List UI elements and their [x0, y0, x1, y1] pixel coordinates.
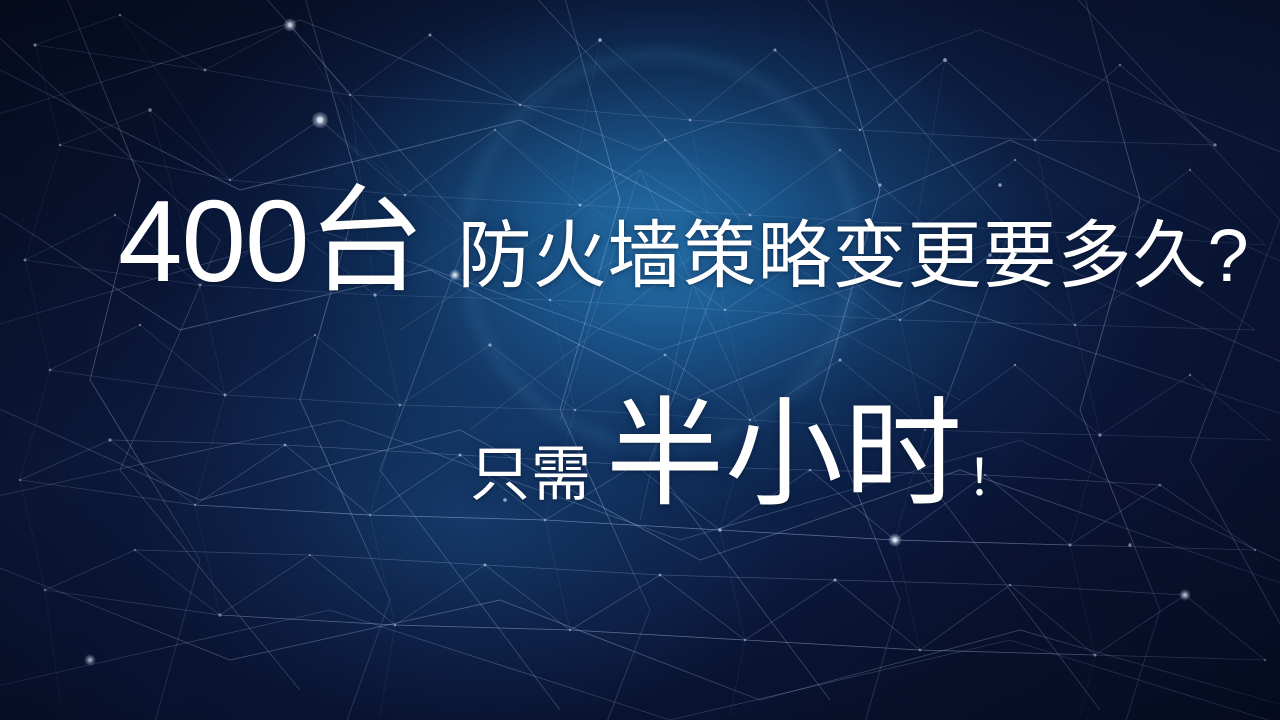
slide-text-content: 400台 防火墙策略变更要多久? 只需 半小时 ！ — [0, 0, 1280, 720]
presentation-slide: 400台 防火墙策略变更要多久? 只需 半小时 ！ — [0, 0, 1280, 720]
answer-prefix-text: 只需 — [470, 445, 592, 505]
answer-exclamation-text: ！ — [967, 453, 1017, 503]
answer-row: 只需 半小时 ！ — [470, 396, 1017, 514]
answer-emphasis-text: 半小时 — [606, 396, 963, 514]
device-count-text: 400台 — [118, 183, 424, 299]
headline-question-text: 防火墙策略变更要多久? — [458, 219, 1250, 293]
headline-row: 400台 防火墙策略变更要多久? — [118, 183, 1250, 299]
